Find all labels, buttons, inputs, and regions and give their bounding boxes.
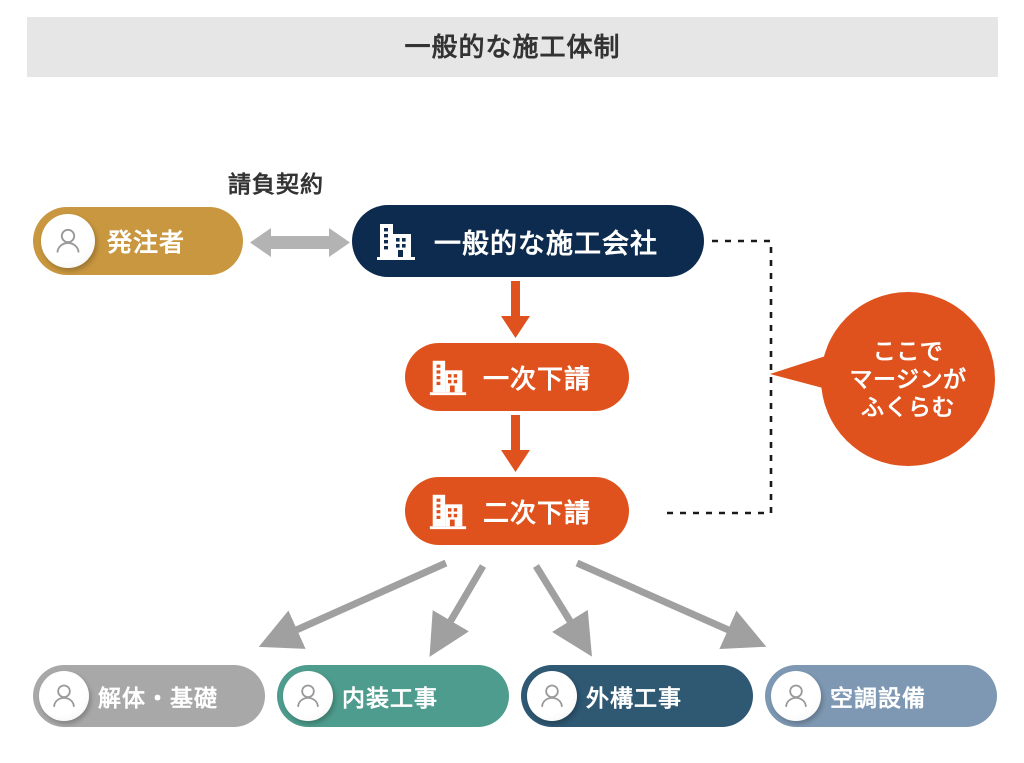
contract-label: 請負契約 xyxy=(228,165,324,199)
node-client-label: 発注者 xyxy=(107,223,185,259)
callout-line-3: ふくらむ xyxy=(849,393,966,421)
page-title: 一般的な施工体制 xyxy=(27,17,998,77)
node-general-contractor[interactable]: 一般的な施工会社 xyxy=(352,205,704,277)
splay-arrows-icon xyxy=(283,563,742,636)
node-primary-sub-label: 一次下請 xyxy=(483,359,591,396)
node-general-contractor-label: 一般的な施工会社 xyxy=(434,222,658,261)
building-icon xyxy=(374,219,418,263)
callout-text: ここで マージンが ふくらむ xyxy=(849,337,966,421)
title-band: 一般的な施工体制 xyxy=(27,17,998,77)
callout-bubble: ここで マージンが ふくらむ xyxy=(821,292,995,466)
trade-pill-label: 外構工事 xyxy=(586,679,682,713)
person-icon xyxy=(527,671,577,721)
trade-pill-interior[interactable]: 内装工事 xyxy=(277,665,509,727)
person-icon xyxy=(41,214,95,268)
contract-arrow-icon xyxy=(250,228,350,257)
trade-pill-demolition[interactable]: 解体・基礎 xyxy=(33,665,265,727)
node-secondary-sub-label: 二次下請 xyxy=(483,493,591,530)
trade-pill-exterior[interactable]: 外構工事 xyxy=(521,665,753,727)
building-icon xyxy=(427,356,469,398)
callout-line-2: マージンが xyxy=(849,365,966,393)
trade-pill-hvac[interactable]: 空調設備 xyxy=(765,665,997,727)
margin-bracket-icon xyxy=(665,241,771,513)
person-icon xyxy=(283,671,333,721)
node-primary-sub[interactable]: 一次下請 xyxy=(405,343,629,411)
node-client[interactable]: 発注者 xyxy=(33,207,243,275)
trade-pill-label: 解体・基礎 xyxy=(98,679,218,713)
flow-arrow-down-2-icon xyxy=(501,415,530,472)
person-icon xyxy=(771,671,821,721)
building-icon xyxy=(427,490,469,532)
person-icon xyxy=(39,671,89,721)
trade-pill-label: 内装工事 xyxy=(342,679,438,713)
callout-line-1: ここで xyxy=(849,337,966,365)
trade-pill-label: 空調設備 xyxy=(830,679,926,713)
node-secondary-sub[interactable]: 二次下請 xyxy=(405,477,629,545)
flow-arrow-down-1-icon xyxy=(501,281,530,338)
